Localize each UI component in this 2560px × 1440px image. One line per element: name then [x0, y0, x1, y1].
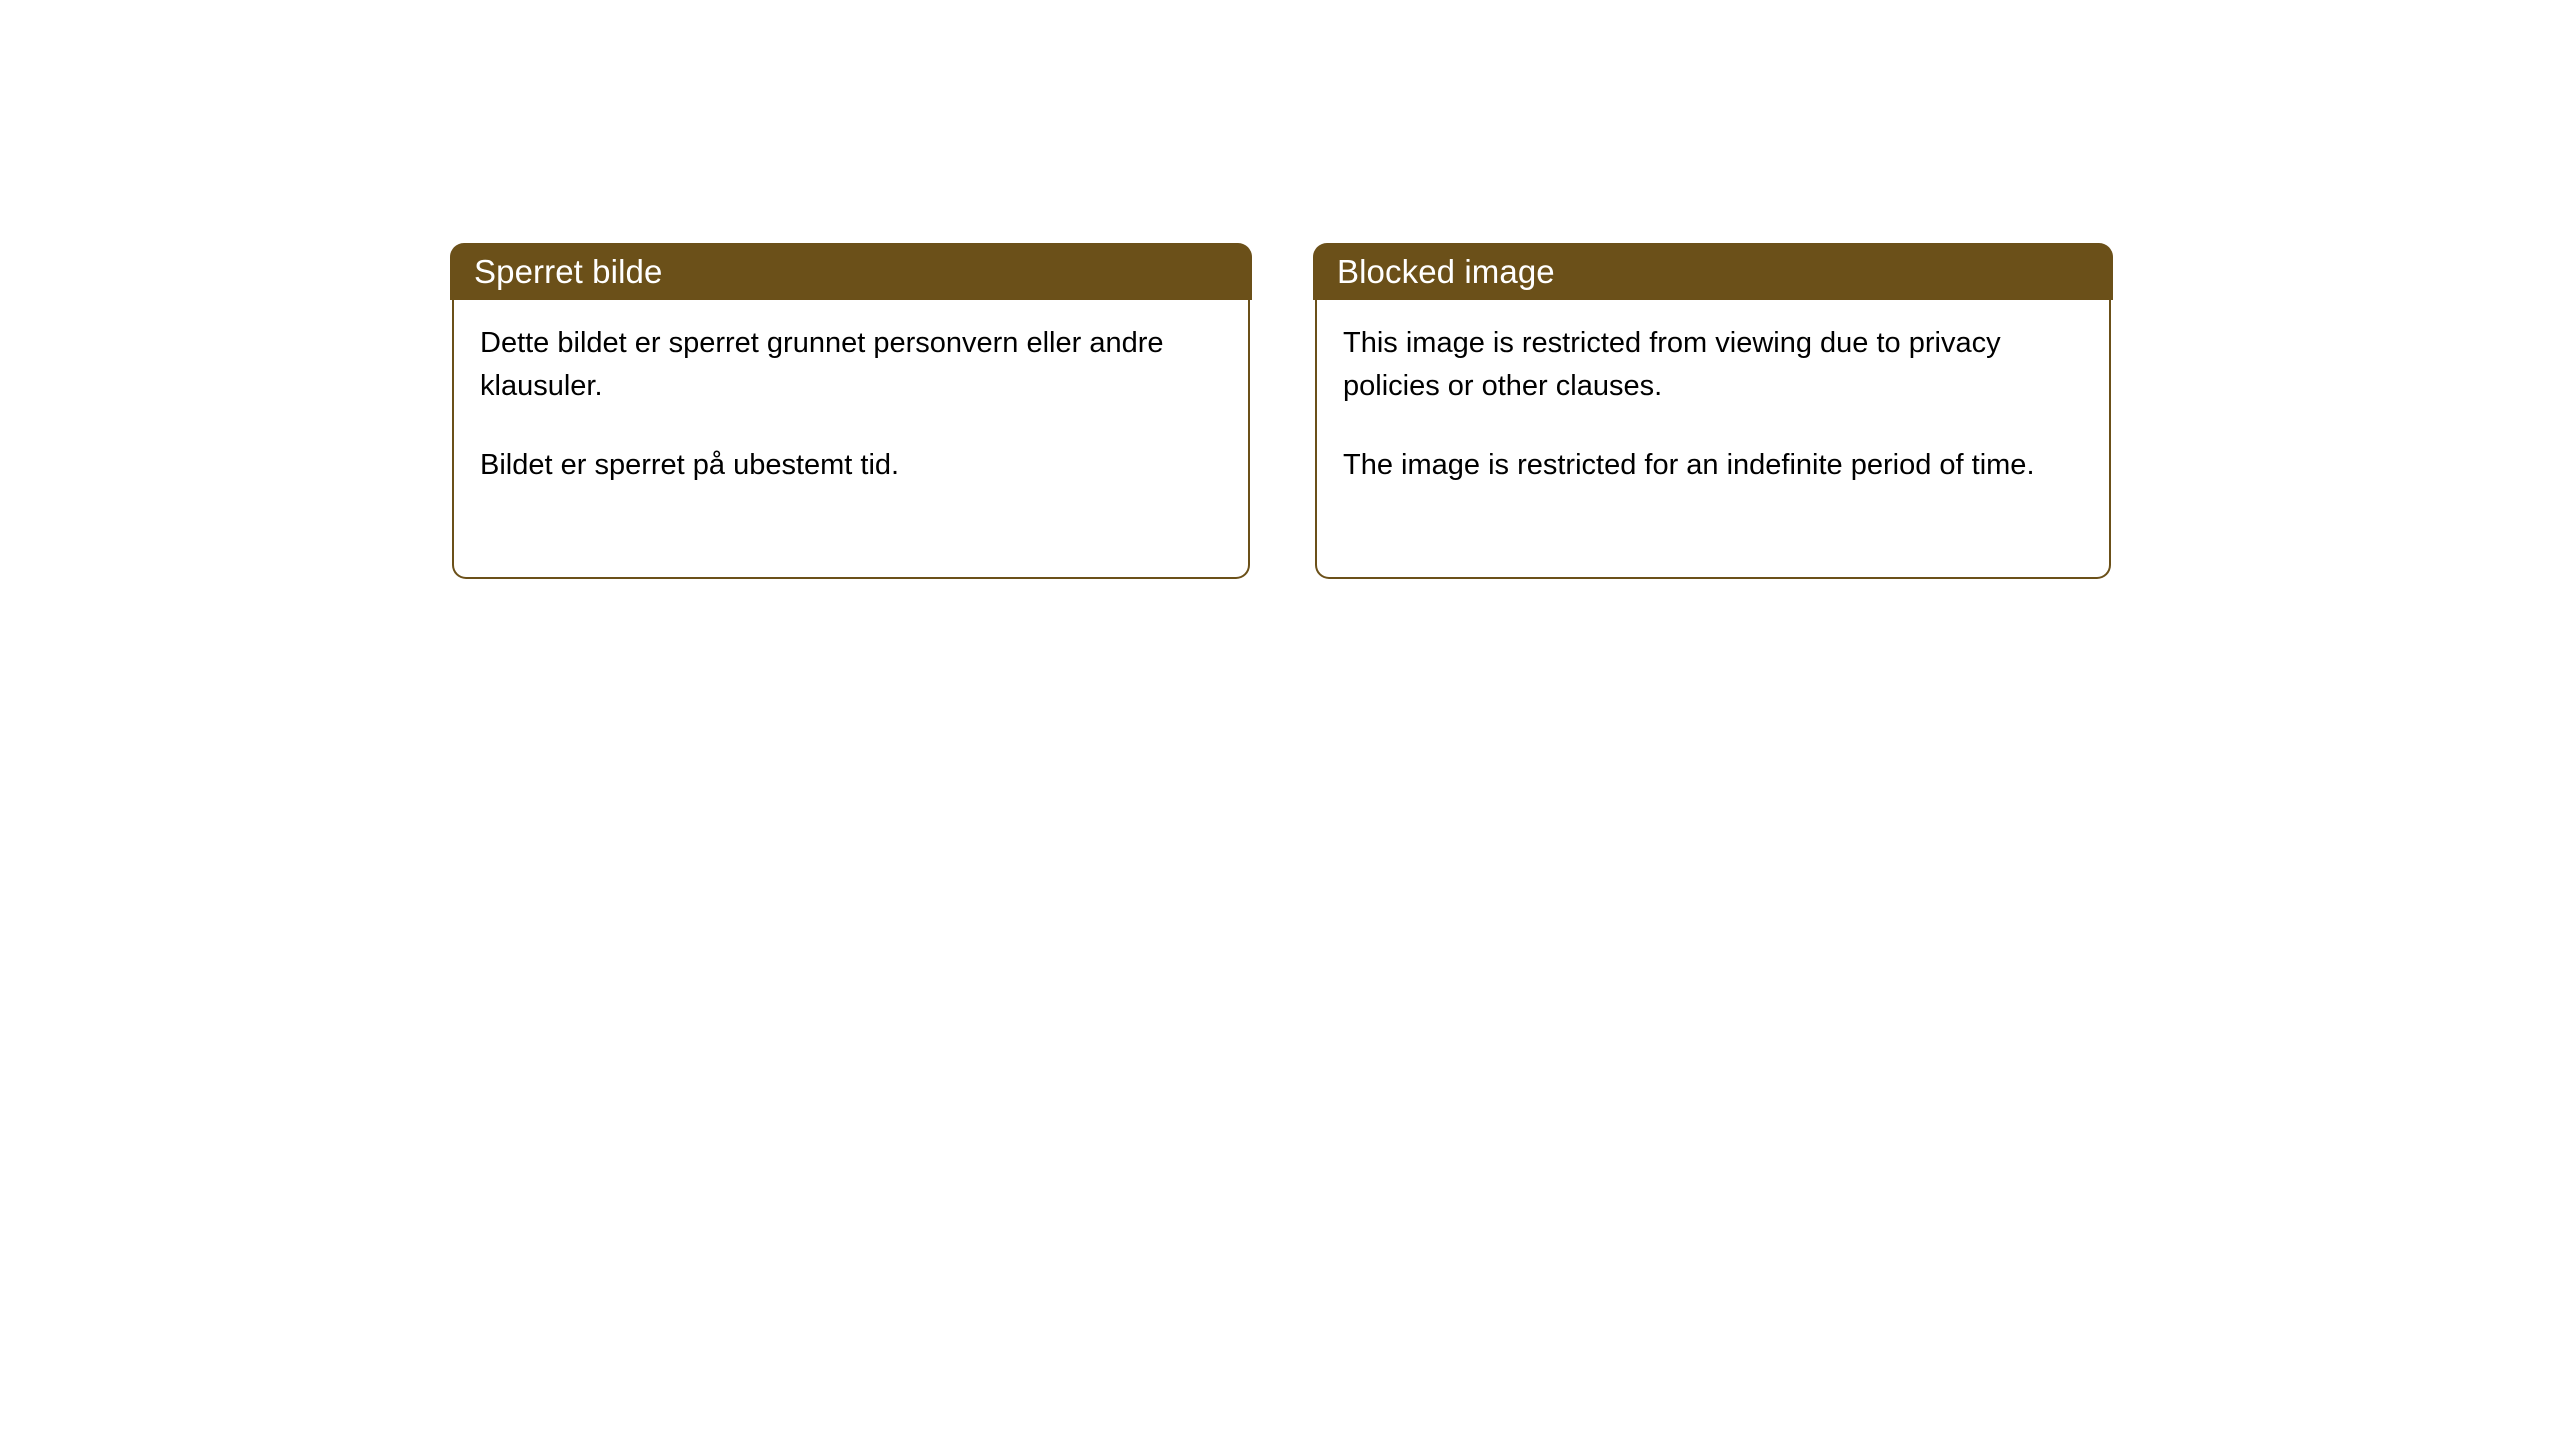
page-canvas: Sperret bilde Dette bildet er sperret gr… — [0, 0, 2560, 1440]
card-paragraph-secondary-no: Bildet er sperret på ubestemt tid. — [480, 444, 1222, 487]
card-paragraph-primary-en: This image is restricted from viewing du… — [1343, 322, 2083, 408]
card-title-no: Sperret bilde — [450, 255, 662, 288]
card-header-no: Sperret bilde — [450, 243, 1252, 300]
card-paragraph-primary-no: Dette bildet er sperret grunnet personve… — [480, 322, 1222, 408]
blocked-image-notice-card-no: Sperret bilde Dette bildet er sperret gr… — [450, 243, 1252, 579]
card-header-en: Blocked image — [1313, 243, 2113, 300]
card-paragraph-secondary-en: The image is restricted for an indefinit… — [1343, 444, 2083, 487]
blocked-image-notice-card-en: Blocked image This image is restricted f… — [1313, 243, 2113, 579]
card-body-en: This image is restricted from viewing du… — [1315, 300, 2111, 579]
card-title-en: Blocked image — [1313, 255, 1555, 288]
card-body-no: Dette bildet er sperret grunnet personve… — [452, 300, 1250, 579]
